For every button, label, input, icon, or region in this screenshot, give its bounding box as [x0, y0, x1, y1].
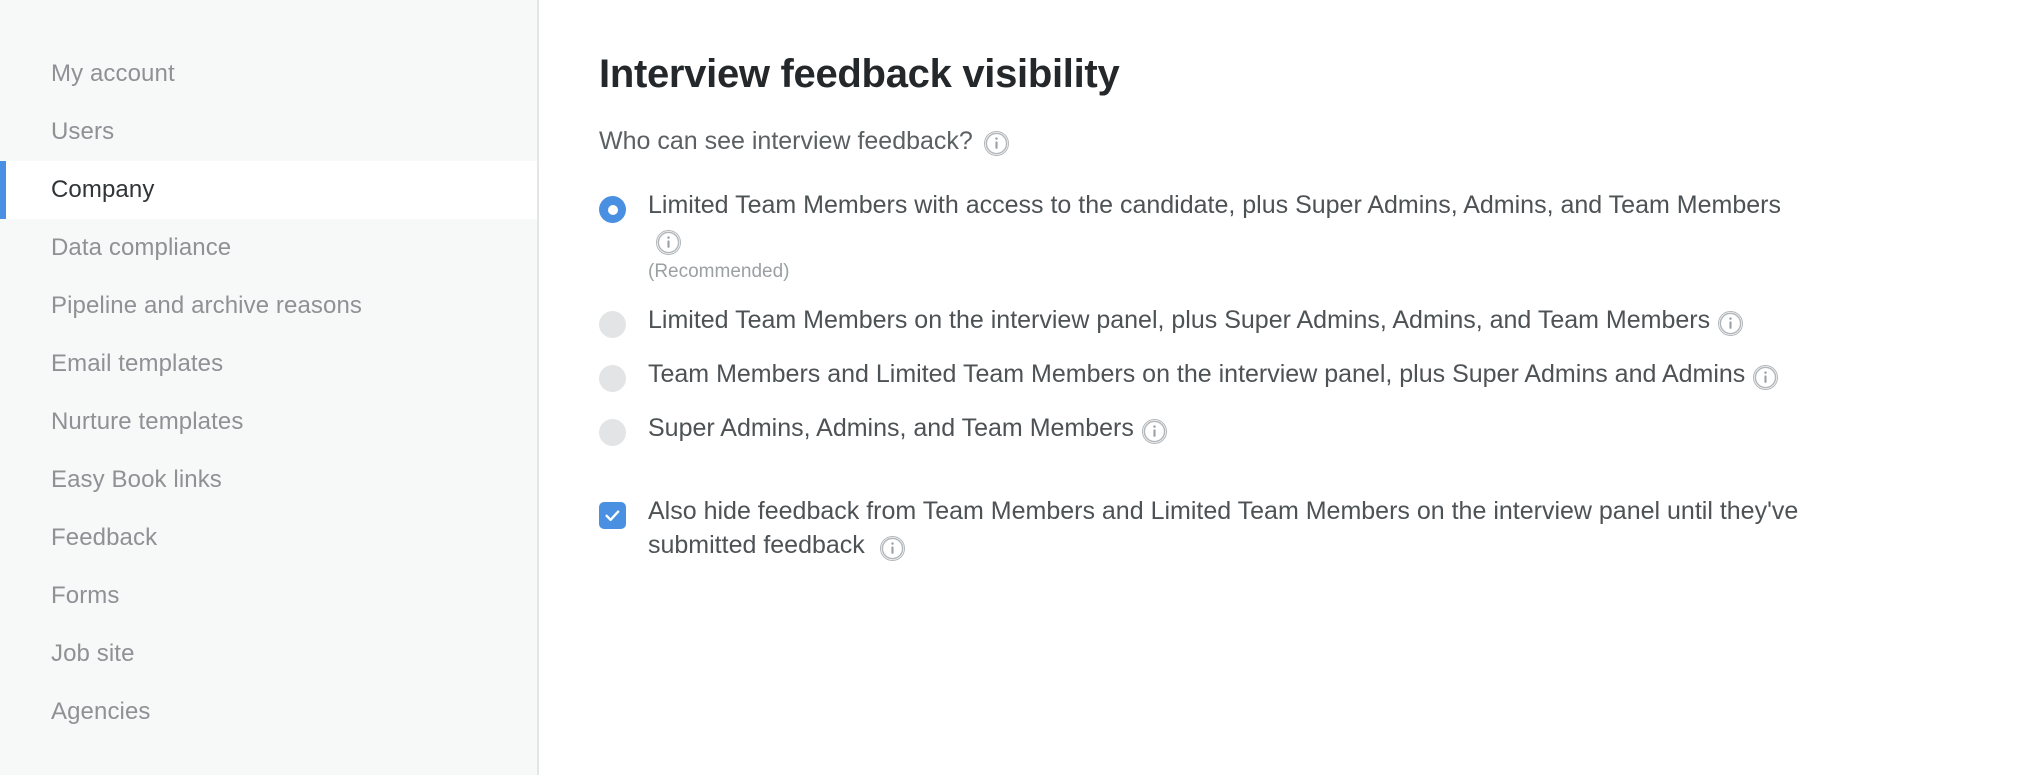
sidebar-item-label: Easy Book links [51, 466, 222, 494]
page-title: Interview feedback visibility [599, 52, 2026, 96]
info-icon[interactable] [656, 230, 681, 255]
sidebar-item-label: Agencies [51, 698, 151, 726]
visibility-option-text: Super Admins, Admins, and Team Members [648, 414, 1134, 442]
visibility-option-body: Limited Team Members on the interview pa… [648, 303, 1743, 337]
hide-feedback-checkbox-text: Also hide feedback from Team Members and… [648, 497, 1798, 559]
visibility-option-4[interactable]: Super Admins, Admins, and Team Members [599, 411, 2026, 446]
question-label: Who can see interview feedback? [599, 126, 973, 156]
visibility-option-label: Team Members and Limited Team Members on… [648, 357, 1778, 391]
sidebar-item-agencies[interactable]: Agencies [0, 683, 537, 741]
radio-option-4[interactable] [599, 419, 626, 446]
sidebar-item-label: Email templates [51, 350, 223, 378]
info-icon[interactable] [1753, 365, 1778, 390]
info-icon[interactable] [984, 131, 1009, 156]
sidebar-item-label: My account [51, 60, 175, 88]
visibility-option-text: Limited Team Members on the interview pa… [648, 306, 1710, 334]
radio-option-3[interactable] [599, 365, 626, 392]
visibility-option-label: Super Admins, Admins, and Team Members [648, 411, 1167, 445]
sidebar-item-easy-book-links[interactable]: Easy Book links [0, 451, 537, 509]
sidebar-item-label: Forms [51, 582, 120, 610]
info-icon[interactable] [1142, 419, 1167, 444]
sidebar-item-label: Nurture templates [51, 408, 243, 436]
sidebar-item-company[interactable]: Company [0, 161, 537, 219]
sidebar-item-forms[interactable]: Forms [0, 567, 537, 625]
settings-sidebar: My accountUsersCompanyData compliancePip… [0, 0, 539, 775]
main-content: Interview feedback visibility Who can se… [539, 0, 2026, 775]
sidebar-nav-list: My accountUsersCompanyData compliancePip… [0, 45, 537, 741]
sidebar-item-label: Company [51, 176, 154, 204]
visibility-option-label: Limited Team Members with access to the … [648, 188, 1808, 256]
visibility-option-3[interactable]: Team Members and Limited Team Members on… [599, 357, 2026, 392]
settings-page: My accountUsersCompanyData compliancePip… [0, 0, 2026, 775]
info-icon[interactable] [1718, 311, 1743, 336]
question-row: Who can see interview feedback? [599, 126, 2026, 156]
visibility-option-body: Team Members and Limited Team Members on… [648, 357, 1778, 391]
hide-feedback-checkbox[interactable] [599, 502, 626, 529]
info-icon[interactable] [880, 536, 905, 561]
radio-option-2[interactable] [599, 311, 626, 338]
hide-feedback-checkbox-row[interactable]: Also hide feedback from Team Members and… [599, 494, 2026, 562]
sidebar-item-label: Feedback [51, 524, 157, 552]
sidebar-item-job-site[interactable]: Job site [0, 625, 537, 683]
visibility-option-note: (Recommended) [648, 261, 1808, 284]
sidebar-item-email-templates[interactable]: Email templates [0, 335, 537, 393]
visibility-option-1[interactable]: Limited Team Members with access to the … [599, 188, 2026, 284]
visibility-option-2[interactable]: Limited Team Members on the interview pa… [599, 303, 2026, 338]
visibility-option-text: Limited Team Members with access to the … [648, 191, 1781, 219]
visibility-option-body: Limited Team Members with access to the … [648, 188, 1808, 284]
hide-feedback-checkbox-label: Also hide feedback from Team Members and… [648, 494, 1828, 562]
sidebar-item-users[interactable]: Users [0, 103, 537, 161]
sidebar-item-data-compliance[interactable]: Data compliance [0, 219, 537, 277]
sidebar-item-feedback[interactable]: Feedback [0, 509, 537, 567]
sidebar-item-nurture-templates[interactable]: Nurture templates [0, 393, 537, 451]
sidebar-item-label: Pipeline and archive reasons [51, 292, 362, 320]
sidebar-item-label: Data compliance [51, 234, 231, 262]
sidebar-item-label: Job site [51, 640, 135, 668]
sidebar-item-label: Users [51, 118, 114, 146]
sidebar-item-my-account[interactable]: My account [0, 45, 537, 103]
sidebar-item-pipeline-and-archive-reasons[interactable]: Pipeline and archive reasons [0, 277, 537, 335]
radio-option-1[interactable] [599, 196, 626, 223]
visibility-options-group: Limited Team Members with access to the … [599, 188, 2026, 446]
visibility-option-text: Team Members and Limited Team Members on… [648, 360, 1745, 388]
visibility-option-label: Limited Team Members on the interview pa… [648, 303, 1743, 337]
visibility-option-body: Super Admins, Admins, and Team Members [648, 411, 1167, 445]
